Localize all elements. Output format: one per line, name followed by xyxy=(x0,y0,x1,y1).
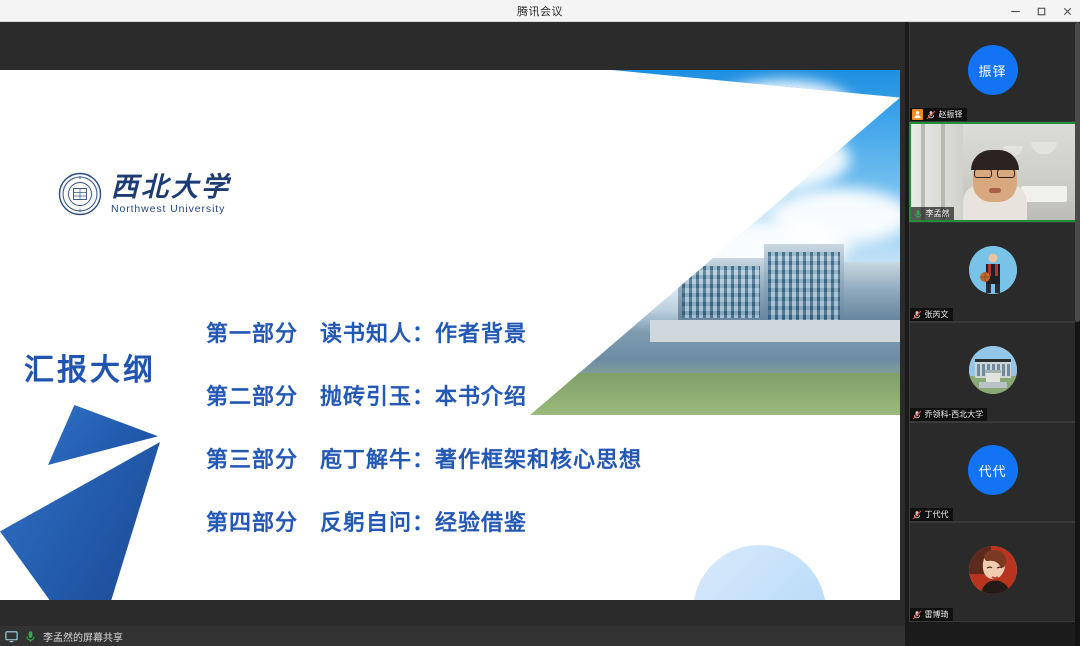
participant-name-bar: 李孟然 xyxy=(911,207,954,220)
participant-name-bar: 乔领科-西北大学 xyxy=(910,408,988,421)
rail-scrollbar[interactable] xyxy=(1075,22,1080,646)
university-logo: 西北大学 Northwest University xyxy=(58,172,231,216)
shared-screen-stage[interactable]: 西北大学 Northwest University 汇报大纲 第一部分 读书知人… xyxy=(0,22,905,646)
share-label: 李孟然的屏幕共享 xyxy=(43,629,123,644)
participants-rail[interactable]: 振铎 赵振铎 xyxy=(905,22,1080,646)
mic-muted-icon xyxy=(912,610,922,620)
agenda-item-text: 反躬自问：经验借鉴 xyxy=(320,505,527,537)
agenda-item: 第二部分 抛砖引玉：本书介绍 xyxy=(206,379,642,411)
agenda-item-text: 读书知人：作者背景 xyxy=(320,316,527,348)
mic-muted-icon xyxy=(912,410,922,420)
participant-tile[interactable]: 振铎 赵振铎 xyxy=(909,22,1077,122)
avatar-initials: 代代 xyxy=(978,461,1006,480)
agenda-item: 第三部分 庖丁解牛：著作框架和核心思想 xyxy=(206,442,642,474)
avatar-initials: 振铎 xyxy=(978,61,1006,80)
participant-name-bar: 丁代代 xyxy=(910,508,953,521)
screen-share-bar: 李孟然的屏幕共享 xyxy=(0,626,905,646)
maximize-button[interactable] xyxy=(1028,0,1054,22)
participant-name-bar: 雷博琦 xyxy=(910,608,953,621)
participant-name: 李孟然 xyxy=(926,208,950,219)
participant-name: 张芮文 xyxy=(925,309,949,320)
mic-on-icon xyxy=(913,209,923,219)
university-seal-icon xyxy=(58,172,102,216)
agenda-part-label: 第四部分 xyxy=(206,505,298,537)
participant-tile[interactable]: 代代 丁代代 xyxy=(909,422,1077,522)
participant-tile[interactable]: 乔领科-西北大学 xyxy=(909,322,1077,422)
rail-scrollbar-thumb[interactable] xyxy=(1075,22,1080,322)
avatar xyxy=(969,546,1017,594)
avatar xyxy=(969,246,1017,294)
mic-on-icon xyxy=(24,630,37,643)
avatar: 振铎 xyxy=(968,45,1018,95)
participant-name: 乔领科-西北大学 xyxy=(925,409,984,420)
logo-chinese-name: 西北大学 xyxy=(111,173,231,201)
slide-headline: 汇报大纲 xyxy=(24,345,156,389)
avatar: 代代 xyxy=(968,445,1018,495)
participant-tile[interactable]: 张芮文 xyxy=(909,222,1077,322)
mic-muted-icon xyxy=(912,310,922,320)
agenda-part-label: 第一部分 xyxy=(206,316,298,348)
agenda-item-text: 庖丁解牛：著作框架和核心思想 xyxy=(320,442,642,474)
decorative-circle xyxy=(693,545,826,600)
participant-name: 赵振铎 xyxy=(939,109,963,120)
mic-muted-icon xyxy=(912,510,922,520)
host-icon xyxy=(912,109,923,120)
window-title: 腾讯会议 xyxy=(517,3,563,19)
minimize-icon xyxy=(1009,5,1022,18)
participant-name: 丁代代 xyxy=(925,509,949,520)
avatar xyxy=(969,346,1017,394)
agenda-item-text: 抛砖引玉：本书介绍 xyxy=(320,379,527,411)
window-controls xyxy=(1002,0,1080,22)
avatar-photo xyxy=(969,346,1017,394)
participant-tile[interactable]: 李孟然 xyxy=(909,122,1077,222)
mic-muted-icon xyxy=(926,110,936,120)
logo-english-name: Northwest University xyxy=(111,203,231,215)
title-bar: 腾讯会议 xyxy=(0,0,1080,22)
agenda-part-label: 第二部分 xyxy=(206,379,298,411)
avatar-photo xyxy=(969,246,1017,294)
close-button[interactable] xyxy=(1054,0,1080,22)
agenda-item: 第四部分 反躬自问：经验借鉴 xyxy=(206,505,642,537)
decor-triangle-large xyxy=(0,442,160,600)
avatar-photo xyxy=(969,546,1017,594)
monitor-icon xyxy=(5,630,18,643)
presentation-slide: 西北大学 Northwest University 汇报大纲 第一部分 读书知人… xyxy=(0,70,900,600)
agenda-part-label: 第三部分 xyxy=(206,442,298,474)
participant-name-bar: 张芮文 xyxy=(910,308,953,321)
participant-tile[interactable]: 雷博琦 xyxy=(909,522,1077,622)
close-icon xyxy=(1061,5,1074,18)
minimize-button[interactable] xyxy=(1002,0,1028,22)
meeting-window: 腾讯会议 xyxy=(0,0,1080,646)
restore-icon xyxy=(1035,5,1048,18)
participant-name-bar: 赵振铎 xyxy=(910,108,967,121)
participant-name: 雷博琦 xyxy=(925,609,949,620)
video-feed xyxy=(911,124,1075,220)
agenda-item: 第一部分 读书知人：作者背景 xyxy=(206,316,642,348)
agenda-list: 第一部分 读书知人：作者背景 第二部分 抛砖引玉：本书介绍 第三部分 庖丁解牛：… xyxy=(206,316,642,537)
